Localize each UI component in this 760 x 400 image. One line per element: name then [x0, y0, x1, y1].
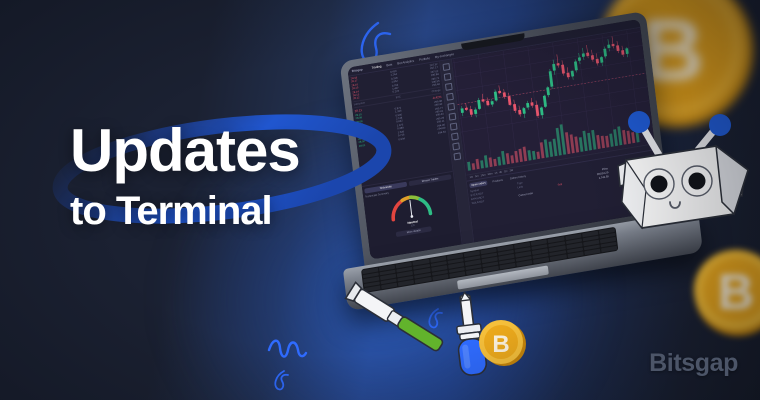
headline-block: Updates to Terminal — [0, 120, 400, 270]
headline-line-1: Updates — [0, 120, 400, 182]
headline-line-2: to Terminal — [0, 188, 400, 234]
promo-banner: B Bitsgap Trading Bots Bot Analytics Por… — [0, 0, 760, 400]
brand-logo: Bitsgap — [649, 349, 738, 378]
